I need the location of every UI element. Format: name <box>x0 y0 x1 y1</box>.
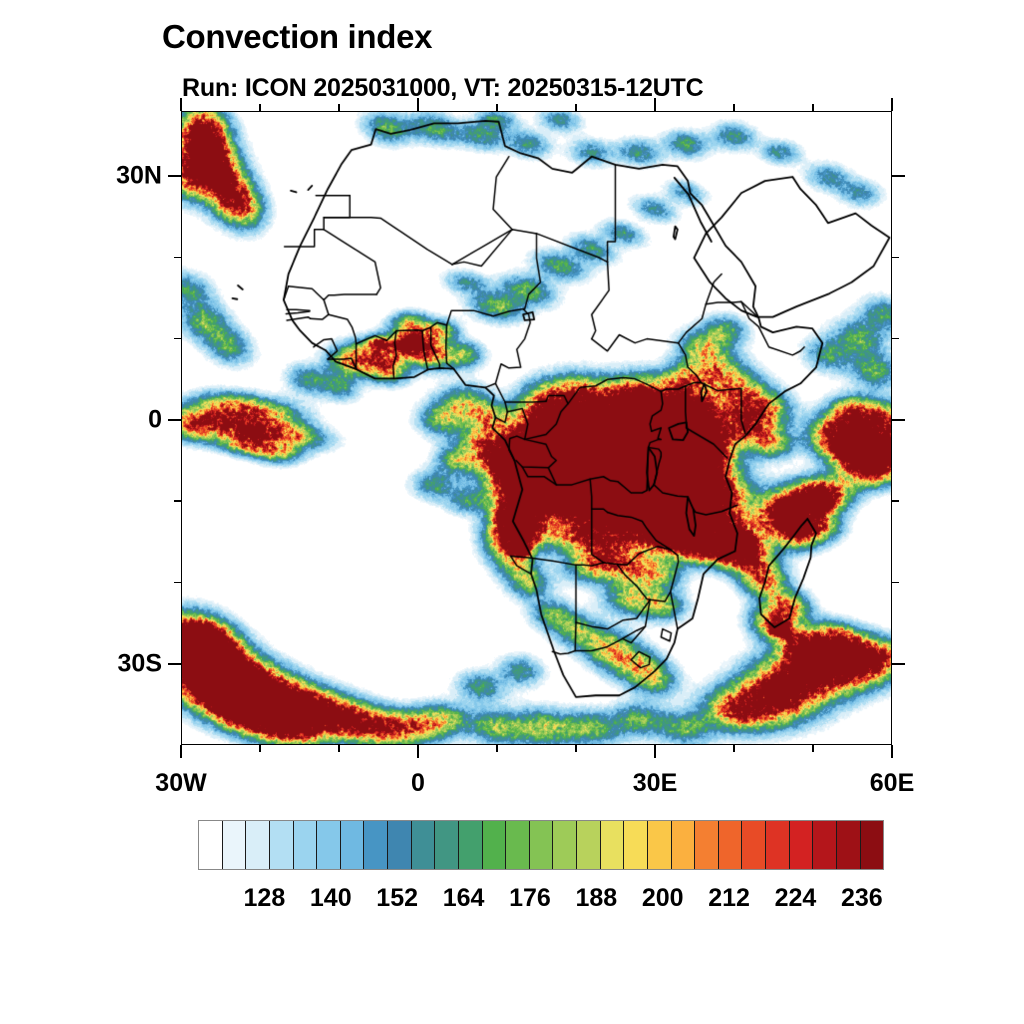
colorbar-cell-23 <box>742 821 766 869</box>
y-minor-tick <box>174 582 181 583</box>
colorbar-cell-7 <box>364 821 388 869</box>
colorbar-tick-128: 128 <box>244 884 286 913</box>
colorbar-tick-236: 236 <box>841 884 883 913</box>
x-major-tick-top <box>180 98 182 111</box>
colorbar-cell-19 <box>648 821 672 869</box>
y-minor-tick-right <box>892 582 899 583</box>
y-axis-label-1: 0 <box>90 405 162 434</box>
y-major-tick-right <box>892 175 905 177</box>
x-minor-tick-top <box>733 104 734 111</box>
colorbar-cell-8 <box>388 821 412 869</box>
y-major-tick-right <box>892 419 905 421</box>
colorbar-cell-5 <box>317 821 341 869</box>
colorbar-tick-188: 188 <box>575 884 617 913</box>
colorbar-cell-6 <box>341 821 365 869</box>
y-minor-tick <box>174 257 181 258</box>
x-minor-tick-top <box>259 104 260 111</box>
x-major-tick <box>417 745 419 758</box>
x-minor-tick <box>575 745 576 752</box>
colorbar <box>198 820 884 870</box>
x-axis-label-0: 30W <box>155 769 206 798</box>
y-axis-label-0: 30N <box>90 162 162 191</box>
x-minor-tick <box>733 745 734 752</box>
x-major-tick-top <box>891 98 893 111</box>
colorbar-tick-152: 152 <box>376 884 418 913</box>
page-title: Convection index <box>162 18 432 56</box>
colorbar-tick-164: 164 <box>443 884 485 913</box>
x-axis-label-3: 60E <box>870 769 914 798</box>
colorbar-cell-28 <box>861 821 884 869</box>
x-axis-label-2: 30E <box>633 769 677 798</box>
colorbar-cell-25 <box>790 821 814 869</box>
y-minor-tick-right <box>892 338 899 339</box>
colorbar-cell-17 <box>601 821 625 869</box>
colorbar-cell-4 <box>294 821 318 869</box>
y-major-tick <box>168 175 181 177</box>
x-minor-tick-top <box>812 104 813 111</box>
colorbar-tick-224: 224 <box>775 884 817 913</box>
y-major-tick <box>168 419 181 421</box>
x-axis-label-1: 0 <box>411 769 425 798</box>
page-subtitle: Run: ICON 2025031000, VT: 20250315-12UTC <box>182 74 703 103</box>
x-major-tick-top <box>654 98 656 111</box>
colorbar-cell-16 <box>577 821 601 869</box>
x-major-tick-top <box>417 98 419 111</box>
colorbar-cell-20 <box>672 821 696 869</box>
map-plot-area <box>181 111 892 745</box>
colorbar-cell-24 <box>766 821 790 869</box>
colorbar-cell-15 <box>553 821 577 869</box>
y-minor-tick-right <box>892 257 899 258</box>
y-minor-tick-right <box>892 500 899 501</box>
colorbar-tick-140: 140 <box>310 884 352 913</box>
colorbar-cell-12 <box>483 821 507 869</box>
colorbar-tick-176: 176 <box>509 884 551 913</box>
colorbar-tick-200: 200 <box>642 884 684 913</box>
y-axis-label-2: 30S <box>90 649 162 678</box>
colorbar-cell-21 <box>695 821 719 869</box>
y-minor-tick <box>174 500 181 501</box>
y-major-tick <box>168 663 181 665</box>
colorbar-cell-3 <box>270 821 294 869</box>
colorbar-cell-9 <box>412 821 436 869</box>
x-major-tick <box>180 745 182 758</box>
colorbar-cell-0 <box>199 821 223 869</box>
x-minor-tick-top <box>338 104 339 111</box>
colorbar-cell-26 <box>813 821 837 869</box>
colorbar-cell-1 <box>223 821 247 869</box>
convection-index-heatmap <box>182 112 891 744</box>
colorbar-cell-27 <box>837 821 861 869</box>
y-minor-tick <box>174 338 181 339</box>
x-minor-tick-top <box>575 104 576 111</box>
colorbar-cell-13 <box>506 821 530 869</box>
colorbar-cell-2 <box>246 821 270 869</box>
x-minor-tick <box>812 745 813 752</box>
colorbar-tick-212: 212 <box>708 884 750 913</box>
x-minor-tick <box>496 745 497 752</box>
colorbar-cell-11 <box>459 821 483 869</box>
colorbar-cell-10 <box>435 821 459 869</box>
y-major-tick-right <box>892 663 905 665</box>
x-major-tick <box>891 745 893 758</box>
colorbar-cell-18 <box>624 821 648 869</box>
colorbar-cell-14 <box>530 821 554 869</box>
x-minor-tick <box>338 745 339 752</box>
x-major-tick <box>654 745 656 758</box>
colorbar-cell-22 <box>719 821 743 869</box>
x-minor-tick-top <box>496 104 497 111</box>
x-minor-tick <box>259 745 260 752</box>
